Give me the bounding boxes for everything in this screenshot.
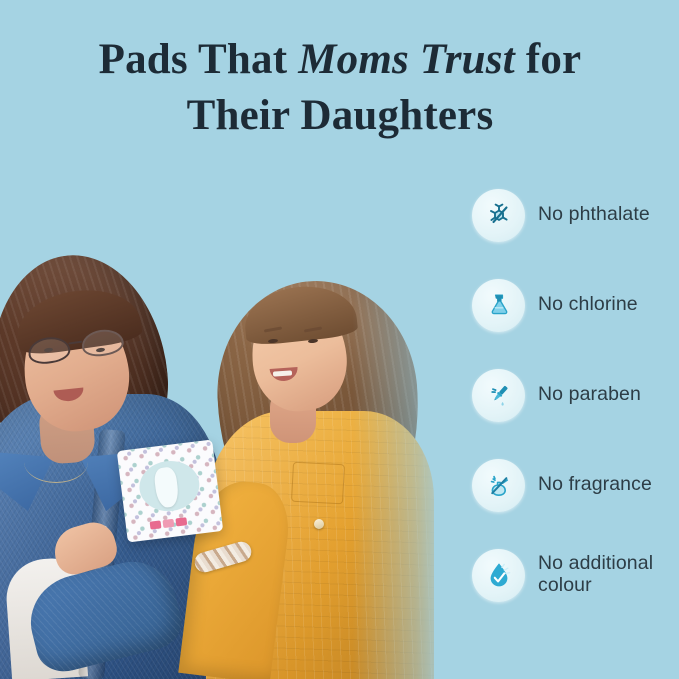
lifestyle-photo (0, 134, 452, 679)
headline-line2: Their Daughters (187, 92, 494, 139)
lens-right (80, 327, 125, 359)
shirt-button (314, 519, 324, 529)
dropper-icon (484, 380, 514, 410)
benefit-item-fragrance: No fragrance (472, 456, 672, 514)
badge-circle (472, 279, 525, 332)
page-title: Pads That Moms Trust for Their Daughters (40, 32, 640, 144)
daughter-figure (196, 179, 446, 679)
badge-circle (472, 369, 525, 422)
shirt-pocket (291, 462, 345, 505)
badge-circle (472, 549, 525, 602)
headline-line1-post: for (515, 36, 581, 83)
benefit-label: No chlorine (538, 294, 638, 316)
benefit-label: No fragrance (538, 474, 652, 496)
molecule-crossed-icon (484, 200, 514, 230)
lens-left (27, 335, 72, 367)
benefit-label: No additional colour (538, 553, 653, 597)
benefit-item-paraben: No paraben (472, 366, 672, 424)
spray-bottle-crossed-icon (484, 470, 514, 500)
headline-line1-pre: Pads That (99, 36, 299, 83)
flask-icon (484, 290, 514, 320)
benefit-label: No paraben (538, 384, 641, 406)
water-drop-check-icon (484, 560, 514, 590)
glasses-bridge (68, 341, 82, 345)
promo-banner: Pads That Moms Trust for Their Daughters… (0, 0, 679, 679)
benefits-list: No phthalate No chlorine (472, 186, 672, 604)
badge-circle (472, 189, 525, 242)
benefit-item-colour: No additional colour (472, 546, 672, 604)
benefit-item-chlorine: No chlorine (472, 276, 672, 334)
pads-package (117, 439, 223, 542)
headline-emphasis: Moms Trust (298, 36, 515, 83)
benefit-item-phthalate: No phthalate (472, 186, 672, 244)
benefit-label: No phthalate (538, 204, 650, 226)
badge-circle (472, 459, 525, 512)
